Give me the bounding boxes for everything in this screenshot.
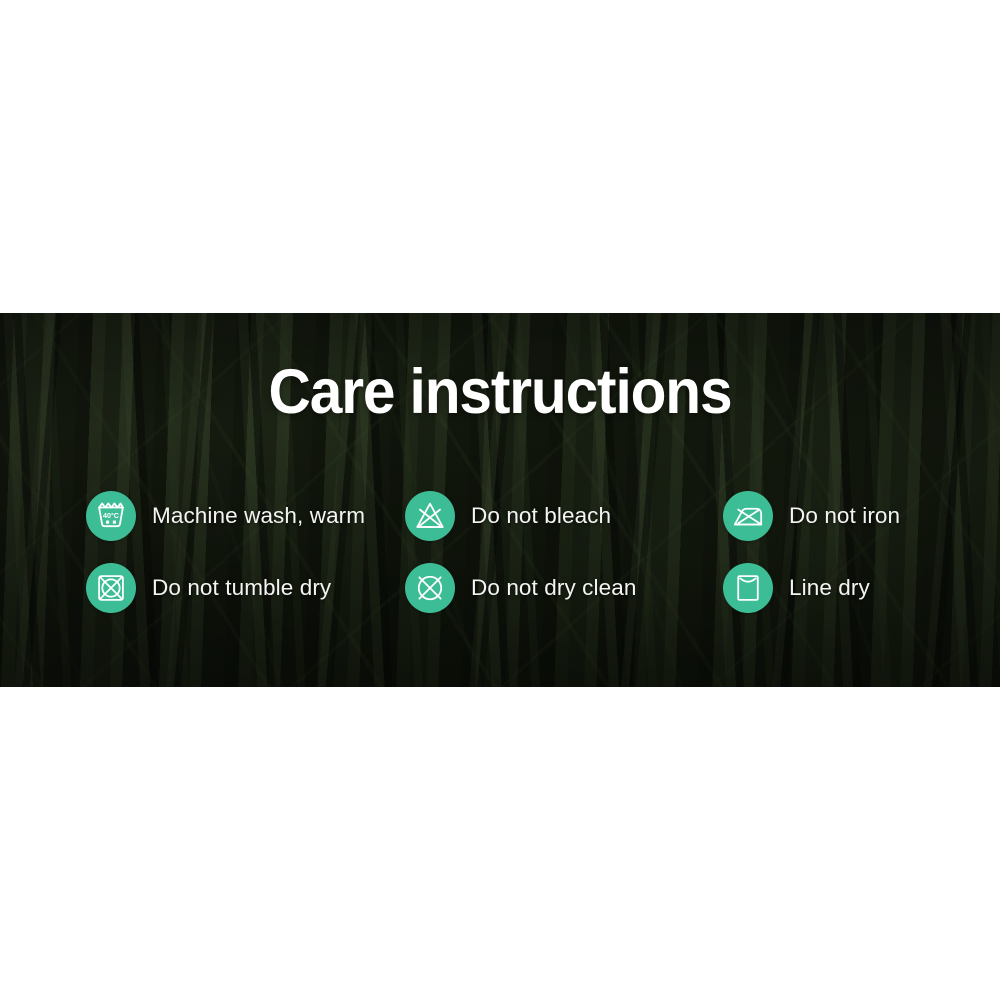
care-item-do-not-iron: Do not iron (723, 491, 946, 541)
care-label-do-not-bleach: Do not bleach (471, 503, 611, 529)
do-not-tumble-dry-badge (86, 563, 136, 613)
machine-wash-temperature-label: 40°C (103, 512, 119, 520)
do-not-dry-clean-icon (413, 571, 447, 605)
care-item-do-not-bleach: Do not bleach (405, 491, 723, 541)
do-not-iron-icon (731, 499, 765, 533)
do-not-bleach-icon (413, 499, 447, 533)
care-label-do-not-tumble-dry: Do not tumble dry (152, 575, 331, 601)
care-label-do-not-dry-clean: Do not dry clean (471, 575, 636, 601)
care-symbol-grid: 40°C Machine wash, warm (86, 480, 946, 624)
care-item-do-not-tumble-dry: Do not tumble dry (86, 563, 405, 613)
wash-dot-left (106, 521, 109, 524)
do-not-iron-badge (723, 491, 773, 541)
care-item-do-not-dry-clean: Do not dry clean (405, 563, 723, 613)
line-dry-icon (731, 571, 765, 605)
page-root: Care instructions 40°C Machine wash, war… (0, 0, 1000, 1000)
machine-wash-warm-icon: 40°C (94, 499, 128, 533)
line-dry-badge (723, 563, 773, 613)
wash-dot-right (113, 521, 116, 524)
care-label-do-not-iron: Do not iron (789, 503, 900, 529)
machine-wash-warm-badge: 40°C (86, 491, 136, 541)
page-title: Care instructions (35, 361, 965, 424)
do-not-tumble-dry-icon (94, 571, 128, 605)
care-item-line-dry: Line dry (723, 563, 946, 613)
do-not-bleach-badge (405, 491, 455, 541)
do-not-dry-clean-badge (405, 563, 455, 613)
banner-content: Care instructions 40°C Machine wash, war… (0, 313, 1000, 687)
care-label-line-dry: Line dry (789, 575, 870, 601)
care-instructions-banner: Care instructions 40°C Machine wash, war… (0, 313, 1000, 687)
care-item-machine-wash-warm: 40°C Machine wash, warm (86, 491, 405, 541)
care-label-machine-wash-warm: Machine wash, warm (152, 503, 365, 529)
